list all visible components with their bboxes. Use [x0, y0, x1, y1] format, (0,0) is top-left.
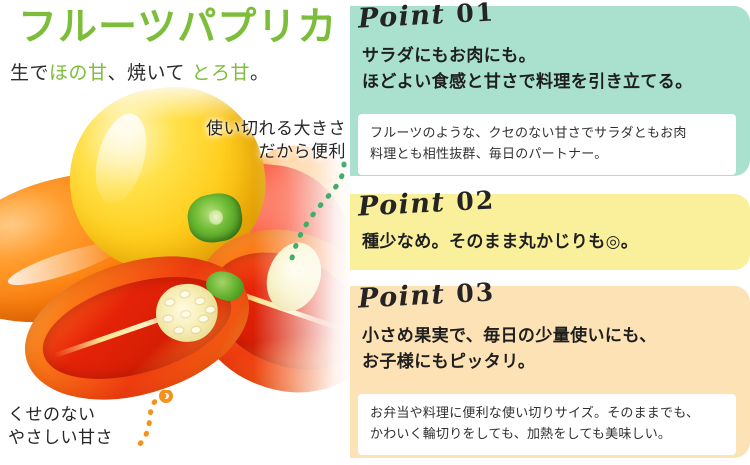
point-card-01: Point 01 サラダにもお肉にも。 ほどよい食感と甘さで料理を引き立てる。 …: [350, 6, 750, 176]
point-card-03: Point 03 小さめ果実で、毎日の少量使いにも、 お子様にもピッタリ。 お弁…: [350, 286, 750, 458]
subtitle-part-2: 、焼いて: [108, 62, 192, 84]
point-03-note-line1: お弁当や料理に便利な使い切りサイズ。そのままでも、: [370, 403, 724, 424]
point-card-02: Point 02 種少なめ。そのまま丸かじりも◎。: [350, 194, 750, 270]
point-01-heading-line2: ほどよい食感と甘さで料理を引き立てる。: [362, 70, 693, 96]
seed: [205, 306, 215, 313]
brand-subtitle: 生でほの甘、焼いて とろ甘。: [10, 58, 270, 85]
point-01-heading-line1: サラダにもお肉にも。: [362, 44, 693, 70]
point-02-heading-line1: 種少なめ。そのまま丸かじりも◎。: [362, 230, 638, 256]
subtitle-part-0: 生で: [10, 62, 49, 84]
seed: [199, 315, 209, 322]
seed: [174, 326, 184, 333]
seed: [180, 290, 190, 297]
subtitle-part-1: ほの甘: [49, 62, 108, 84]
subtitle-part-4: 。: [250, 62, 270, 84]
dotted-connector-orange: [120, 390, 190, 460]
point-01-note: フルーツのような、クセのない甘さでサラダともお肉 料理とも相性抜群、毎日のパート…: [358, 114, 736, 175]
points-column: Point 01 サラダにもお肉にも。 ほどよい食感と甘さで料理を引き立てる。 …: [350, 0, 750, 465]
point-label-03-word: Point: [357, 279, 446, 315]
point-01-note-line1: フルーツのような、クセのない甘さでサラダともお肉: [370, 123, 724, 144]
point-01-heading: サラダにもお肉にも。 ほどよい食感と甘さで料理を引き立てる。: [362, 44, 693, 95]
point-02-heading: 種少なめ。そのまま丸かじりも◎。: [362, 230, 638, 256]
callout-bottom-left: くせのない やさしい甘さ: [8, 404, 113, 450]
point-label-03-num: 03: [456, 277, 496, 308]
point-03-note-line2: かわいく輪切りをしても、加熱をしても美味しい。: [370, 424, 724, 445]
left-column: フルーツパプリカ 生でほの甘、焼いて とろ甘。: [0, 0, 352, 465]
point-03-heading-line1: 小さめ果実で、毎日の少量使いにも、: [362, 324, 657, 350]
subtitle-part-3: とろ甘: [192, 62, 251, 84]
seed: [192, 326, 202, 333]
point-label-02-word: Point: [357, 187, 446, 223]
point-label-01-num: 01: [456, 0, 496, 28]
poster-root: フルーツパプリカ 生でほの甘、焼いて とろ甘。: [0, 0, 750, 465]
seed: [195, 298, 205, 305]
seed: [164, 315, 174, 322]
point-label-02-num: 02: [456, 185, 496, 216]
seed: [181, 310, 191, 317]
point-label-01-word: Point: [357, 0, 446, 35]
callout-top-right-line2: だから便利: [186, 141, 346, 164]
dotted-connector-green: [286, 160, 356, 270]
callout-bottom-left-line1: くせのない: [8, 404, 113, 427]
point-03-heading-line2: お子様にもピッタリ。: [362, 350, 657, 376]
point-01-note-line2: 料理とも相性抜群、毎日のパートナー。: [370, 144, 724, 165]
seed: [165, 298, 175, 305]
point-03-note: お弁当や料理に便利な使い切りサイズ。そのままでも、 かわいく輪切りをしても、加熱…: [358, 394, 736, 455]
point-03-heading: 小さめ果実で、毎日の少量使いにも、 お子様にもピッタリ。: [362, 324, 657, 375]
callout-bottom-left-line2: やさしい甘さ: [8, 427, 113, 450]
callout-top-right: 使い切れる大きさ だから便利: [186, 118, 346, 164]
page-title: フルーツパプリカ: [18, 8, 337, 47]
callout-top-right-line1: 使い切れる大きさ: [186, 118, 346, 141]
